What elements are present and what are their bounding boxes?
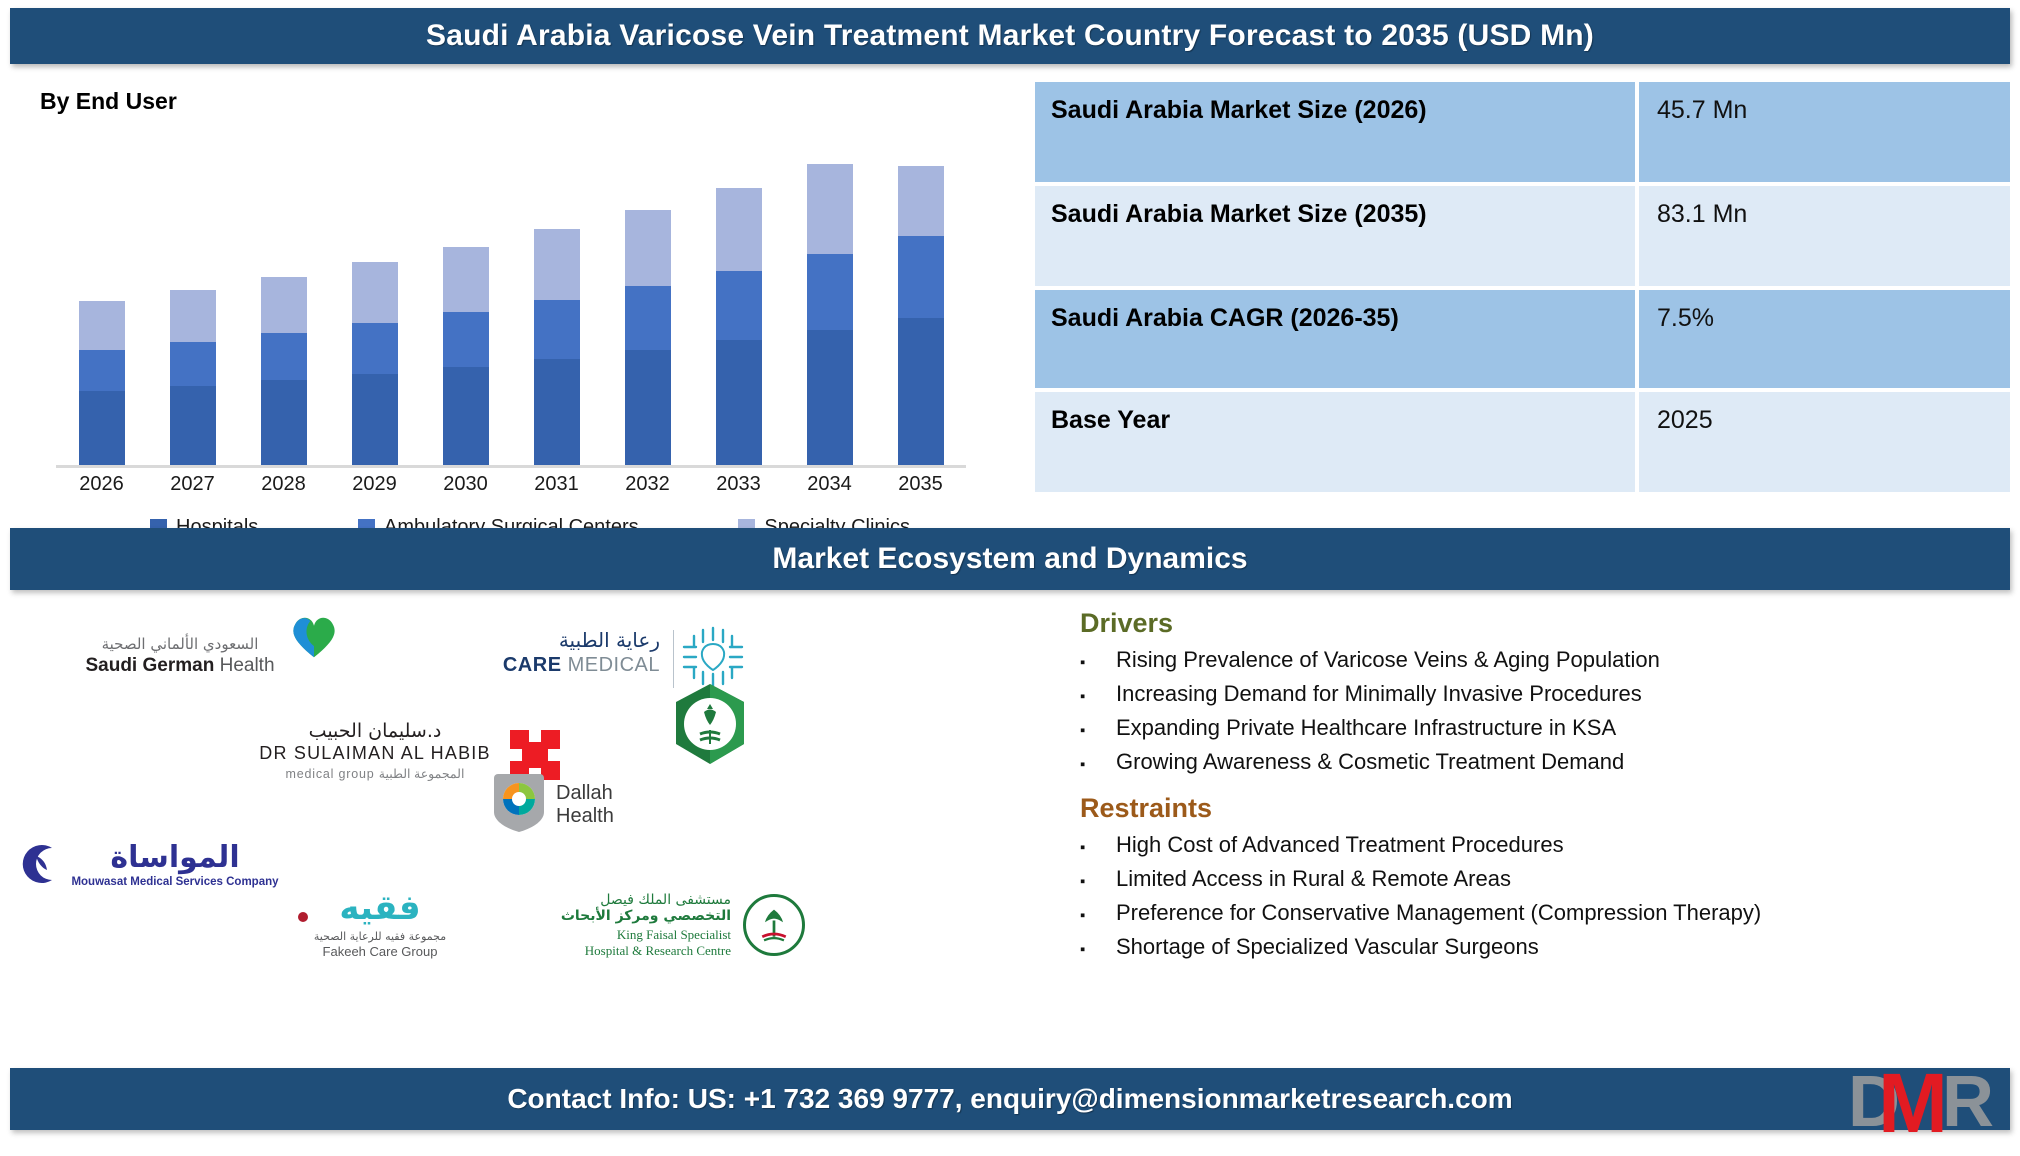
bar-column	[511, 155, 602, 465]
dsh-english-text: DR SULAIMAN AL HABIB	[250, 743, 500, 764]
bar-segment-specialty-clinics	[716, 188, 762, 271]
driver-text: Rising Prevalence of Varicose Veins & Ag…	[1116, 647, 2010, 673]
bar-segment-ambulatory-surgical-centers	[716, 271, 762, 340]
bar-segment-ambulatory-surgical-centers	[534, 300, 580, 359]
driver-text: Growing Awareness & Cosmetic Treatment D…	[1116, 749, 2010, 775]
bullet-icon: ▪	[1080, 840, 1116, 855]
bar-segment-ambulatory-surgical-centers	[625, 286, 671, 350]
drivers-heading: Drivers	[1080, 608, 2010, 639]
sgh-english-text: Saudi German Health	[60, 655, 300, 677]
logo-care-medical: رعاية الطبية CARE MEDICAL	[460, 628, 660, 677]
driver-text: Increasing Demand for Minimally Invasive…	[1116, 681, 2010, 707]
stacked-bar-2032	[625, 210, 671, 465]
restraint-text: Shortage of Specialized Vascular Surgeon…	[1116, 934, 2010, 960]
bar-group	[56, 155, 966, 465]
bullet-icon: ▪	[1080, 908, 1116, 923]
logo-ministry-of-health-saudi	[670, 682, 750, 766]
dmr-letter-m: M	[1878, 1060, 1948, 1148]
stacked-bar-2033	[716, 188, 762, 465]
kpi-value: 45.7 Mn	[1639, 82, 2010, 182]
care-english-text: CARE MEDICAL	[460, 654, 660, 677]
bar-segment-hospitals	[534, 359, 580, 465]
bar-segment-specialty-clinics	[534, 229, 580, 300]
dmr-logo: D R M	[1844, 1060, 2014, 1148]
x-tick-2033: 2033	[693, 473, 784, 496]
driver-text: Expanding Private Healthcare Infrastruct…	[1116, 715, 2010, 741]
bar-segment-hospitals	[352, 374, 398, 465]
dsh-subtitle: medical group المجموعة الطبية	[250, 766, 500, 781]
kpi-label: Base Year	[1035, 392, 1635, 492]
restraint-text: Limited Access in Rural & Remote Areas	[1116, 866, 2010, 892]
dmr-letter-r: R	[1942, 1062, 1994, 1142]
bullet-icon: ▪	[1080, 942, 1116, 957]
bar-segment-hospitals	[261, 380, 307, 465]
driver-item: ▪Rising Prevalence of Varicose Veins & A…	[1080, 643, 2010, 677]
chart-title: By End User	[40, 88, 177, 115]
bar-segment-hospitals	[807, 330, 853, 465]
driver-item: ▪Expanding Private Healthcare Infrastruc…	[1080, 711, 2010, 745]
bullet-icon: ▪	[1080, 689, 1116, 704]
bar-column	[420, 155, 511, 465]
bar-column	[238, 155, 329, 465]
stacked-bar-2034	[807, 164, 853, 465]
page-title-band: Saudi Arabia Varicose Vein Treatment Mar…	[10, 8, 2010, 64]
kpi-value: 83.1 Mn	[1639, 186, 2010, 286]
restraints-list: ▪High Cost of Advanced Treatment Procedu…	[1080, 828, 2010, 964]
bar-column	[784, 155, 875, 465]
bar-segment-ambulatory-surgical-centers	[170, 342, 216, 386]
dsh-arabic-text: د.سليمان الحبيب	[250, 720, 500, 742]
bar-column	[693, 155, 784, 465]
care-medical-burst-icon	[680, 624, 746, 690]
bar-segment-specialty-clinics	[170, 290, 216, 342]
bar-segment-ambulatory-surgical-centers	[443, 312, 489, 367]
bar-segment-hospitals	[443, 367, 489, 465]
kfsh-arabic-line1: مستشفى الملك فيصل	[561, 892, 731, 908]
bullet-icon: ▪	[1080, 723, 1116, 738]
kpi-label: Saudi Arabia Market Size (2035)	[1035, 186, 1635, 286]
kfsh-text: مستشفى الملك فيصل التخصصي ومركز الأبحاث …	[561, 892, 731, 959]
kpi-value: 2025	[1639, 392, 2010, 492]
bar-column	[56, 155, 147, 465]
bar-segment-specialty-clinics	[898, 166, 944, 236]
bullet-icon: ▪	[1080, 655, 1116, 670]
page-title: Saudi Arabia Varicose Vein Treatment Mar…	[426, 19, 1594, 53]
contact-info: Contact Info: US: +1 732 369 9777, enqui…	[507, 1083, 1512, 1115]
stacked-bar-2027	[170, 290, 216, 465]
fakeeh-english-text: Fakeeh Care Group	[280, 944, 480, 959]
chart-panel: By End User 2026202720282029203020312032…	[10, 78, 990, 498]
x-tick-2030: 2030	[420, 473, 511, 496]
x-tick-2026: 2026	[56, 473, 147, 496]
fakeeh-dot-icon	[298, 912, 308, 922]
dallah-line2: Health	[556, 805, 614, 828]
kpi-label: Saudi Arabia CAGR (2026-35)	[1035, 290, 1635, 388]
x-tick-2035: 2035	[875, 473, 966, 496]
logo-dr-sulaiman-al-habib: د.سليمان الحبيب DR SULAIMAN AL HABIB med…	[250, 720, 500, 781]
kpi-row: Saudi Arabia Market Size (2026)45.7 Mn	[1035, 82, 2010, 182]
logo-saudi-german-health: السعودي الألماني الصحية Saudi German Hea…	[60, 635, 300, 677]
stacked-bar-2028	[261, 277, 307, 465]
kpi-table: Saudi Arabia Market Size (2026)45.7 MnSa…	[1035, 82, 2010, 502]
restraint-item: ▪Limited Access in Rural & Remote Areas	[1080, 862, 2010, 896]
kpi-row: Saudi Arabia Market Size (2035)83.1 Mn	[1035, 186, 2010, 286]
infographic-page: Saudi Arabia Varicose Vein Treatment Mar…	[0, 0, 2020, 1156]
bar-segment-hospitals	[170, 386, 216, 465]
sgh-arabic-text: السعودي الألماني الصحية	[60, 635, 300, 653]
restraint-item: ▪Shortage of Specialized Vascular Surgeo…	[1080, 930, 2010, 964]
dallah-text: Dallah Health	[556, 782, 614, 828]
kfsh-english-line2: Hospital & Research Centre	[561, 943, 731, 959]
ecosystem-logo-wall: السعودي الألماني الصحية Saudi German Hea…	[10, 600, 1050, 1020]
bar-segment-specialty-clinics	[443, 247, 489, 312]
stacked-bar-2031	[534, 229, 580, 465]
stacked-bar-2029	[352, 262, 398, 465]
care-arabic-text: رعاية الطبية	[460, 628, 660, 652]
market-dynamics-panel: Drivers ▪Rising Prevalence of Varicose V…	[1080, 608, 2010, 964]
bar-column	[602, 155, 693, 465]
kpi-row: Base Year2025	[1035, 392, 2010, 492]
bar-segment-specialty-clinics	[261, 277, 307, 333]
logo-fakeeh-care-group: فقيه مجموعة فقيه للرعاية الصحية Fakeeh C…	[280, 888, 480, 959]
logo-mouwasat: المواساة Mouwasat Medical Services Compa…	[60, 840, 290, 888]
bar-segment-ambulatory-surgical-centers	[898, 236, 944, 318]
kfsh-english-line1: King Faisal Specialist	[561, 927, 731, 943]
x-tick-2028: 2028	[238, 473, 329, 496]
bullet-icon: ▪	[1080, 874, 1116, 889]
chart-plot-area	[56, 118, 966, 468]
saudi-german-heart-icon	[286, 609, 342, 661]
bar-column	[875, 155, 966, 465]
bar-column	[147, 155, 238, 465]
mouwasat-arabic-text: المواساة	[60, 840, 290, 875]
bar-segment-hospitals	[716, 340, 762, 465]
x-axis-line	[56, 465, 966, 468]
bullet-icon: ▪	[1080, 757, 1116, 772]
footer-band: Contact Info: US: +1 732 369 9777, enqui…	[10, 1068, 2010, 1130]
restraint-item: ▪High Cost of Advanced Treatment Procedu…	[1080, 828, 2010, 862]
bar-segment-specialty-clinics	[352, 262, 398, 323]
bar-segment-specialty-clinics	[79, 301, 125, 350]
driver-item: ▪Increasing Demand for Minimally Invasiv…	[1080, 677, 2010, 711]
x-tick-2034: 2034	[784, 473, 875, 496]
driver-item: ▪Growing Awareness & Cosmetic Treatment …	[1080, 745, 2010, 779]
section-title: Market Ecosystem and Dynamics	[772, 542, 1247, 576]
dallah-shield-icon	[490, 770, 548, 832]
bar-segment-ambulatory-surgical-centers	[352, 323, 398, 374]
restraint-text: High Cost of Advanced Treatment Procedur…	[1116, 832, 2010, 858]
mouwasat-crescent-icon	[18, 842, 62, 886]
kfsh-arabic-line2: التخصصي ومركز الأبحاث	[561, 908, 731, 924]
bar-segment-hospitals	[625, 350, 671, 465]
fakeeh-arabic-text: فقيه	[280, 888, 480, 928]
bar-segment-hospitals	[79, 391, 125, 465]
stacked-bar-2030	[443, 247, 489, 465]
bar-column	[329, 155, 420, 465]
care-divider	[673, 630, 674, 688]
drivers-list: ▪Rising Prevalence of Varicose Veins & A…	[1080, 643, 2010, 779]
section-title-band: Market Ecosystem and Dynamics	[10, 528, 2010, 590]
x-tick-2032: 2032	[602, 473, 693, 496]
bar-segment-specialty-clinics	[625, 210, 671, 287]
kpi-value: 7.5%	[1639, 290, 2010, 388]
dallah-line1: Dallah	[556, 782, 614, 805]
restraints-heading: Restraints	[1080, 793, 2010, 824]
bar-segment-specialty-clinics	[807, 164, 853, 254]
bar-segment-hospitals	[898, 318, 944, 465]
restraint-item: ▪Preference for Conservative Management …	[1080, 896, 2010, 930]
kpi-row: Saudi Arabia CAGR (2026-35)7.5%	[1035, 290, 2010, 388]
bar-segment-ambulatory-surgical-centers	[807, 254, 853, 329]
bar-segment-ambulatory-surgical-centers	[79, 350, 125, 391]
x-tick-2029: 2029	[329, 473, 420, 496]
restraint-text: Preference for Conservative Management (…	[1116, 900, 2010, 926]
x-tick-2031: 2031	[511, 473, 602, 496]
fakeeh-arabic-subtitle: مجموعة فقيه للرعاية الصحية	[280, 930, 480, 943]
mouwasat-english-text: Mouwasat Medical Services Company	[60, 876, 290, 888]
x-tick-2027: 2027	[147, 473, 238, 496]
kfsh-seal-icon	[743, 894, 805, 956]
moh-hexagon-icon	[670, 682, 750, 766]
bar-segment-ambulatory-surgical-centers	[261, 333, 307, 380]
kpi-label: Saudi Arabia Market Size (2026)	[1035, 82, 1635, 182]
stacked-bar-2035	[898, 166, 944, 465]
stacked-bar-2026	[79, 301, 125, 465]
x-axis-tick-labels: 2026202720282029203020312032203320342035	[56, 473, 966, 496]
